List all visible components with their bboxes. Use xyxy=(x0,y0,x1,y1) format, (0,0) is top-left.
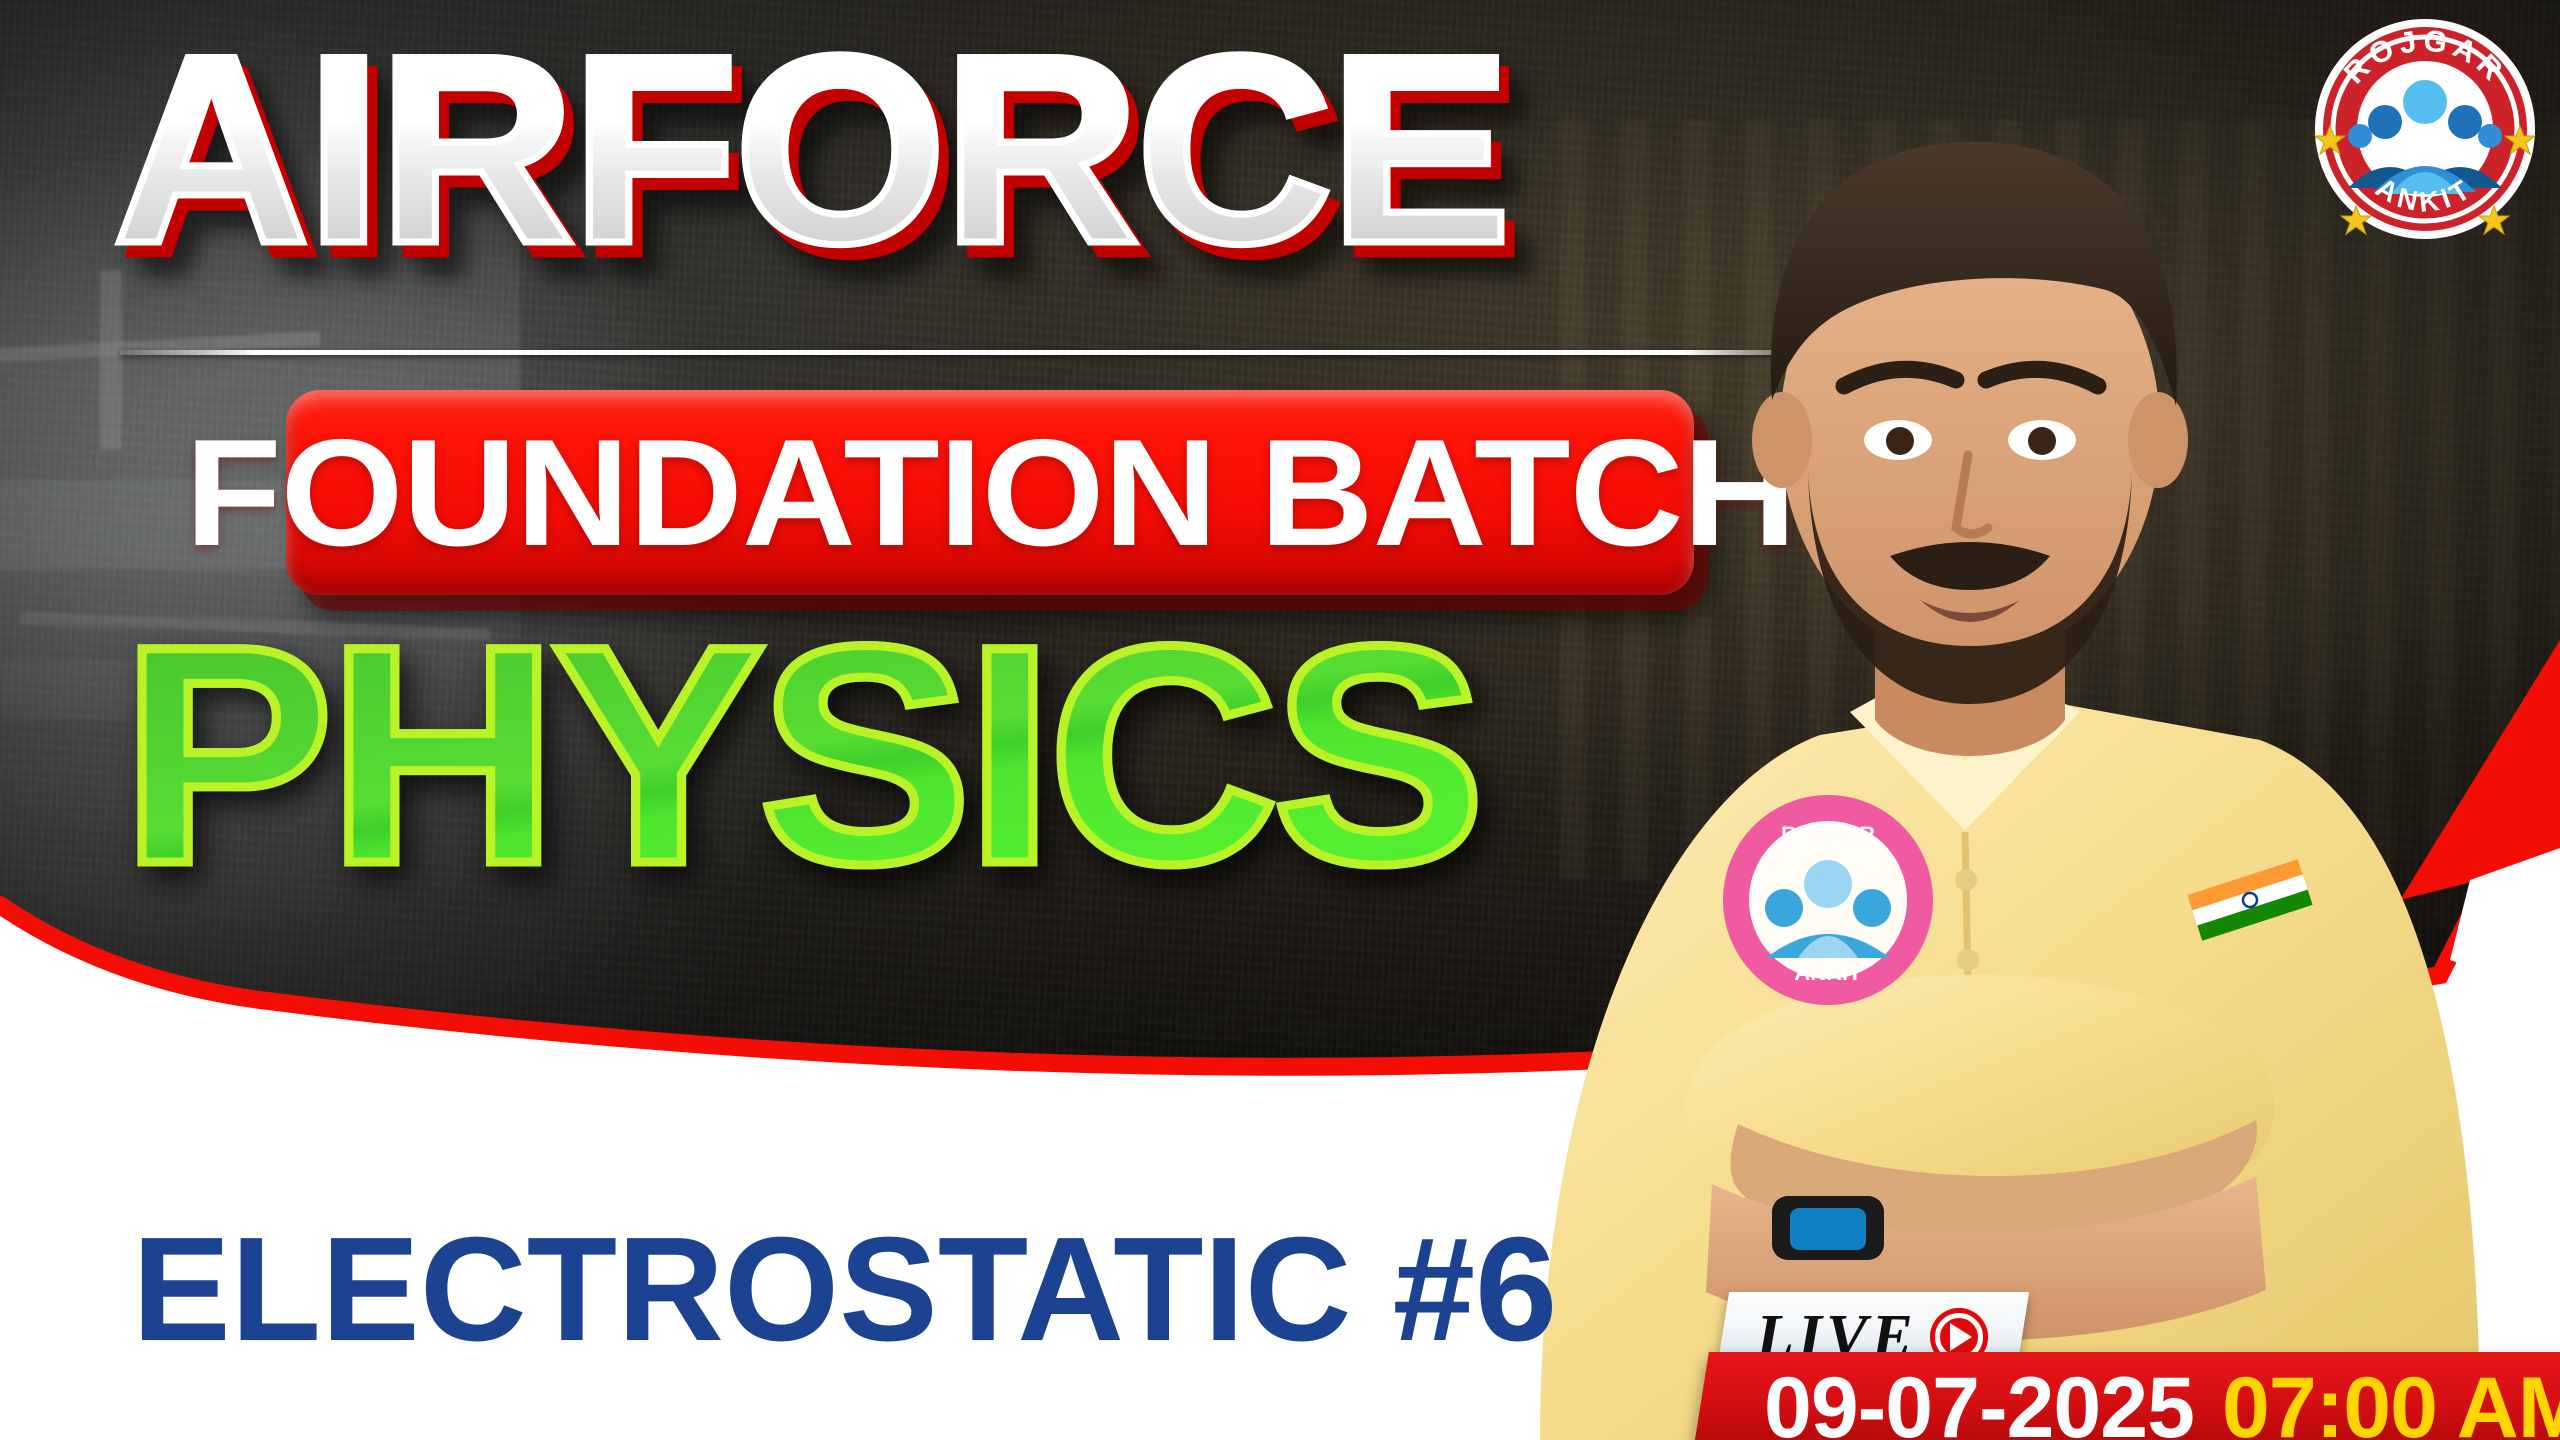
class-date: 09-07-2025 xyxy=(1764,1365,2194,1440)
batch-label: FOUNDATION BATCH xyxy=(185,417,1796,569)
channel-logo: With ROJGAR ANKIT xyxy=(2312,16,2538,242)
subject-title: PHYSICS xyxy=(0,600,1624,910)
schedule-bar: 09-07-2025 07:00 AM xyxy=(1691,1352,2560,1440)
class-time: 07:00 AM xyxy=(2222,1365,2560,1440)
lesson-title: ELECTROSTATIC #6 xyxy=(132,1216,1557,1364)
exam-title: AIRFORCE xyxy=(0,22,1636,277)
title-divider xyxy=(120,350,1820,355)
logo-with-text: With xyxy=(2400,145,2450,171)
batch-badge: FOUNDATION BATCH xyxy=(286,390,1694,595)
thumbnail-canvas: AIRFORCE FOUNDATION BATCH PHYSICS xyxy=(0,0,2560,1440)
